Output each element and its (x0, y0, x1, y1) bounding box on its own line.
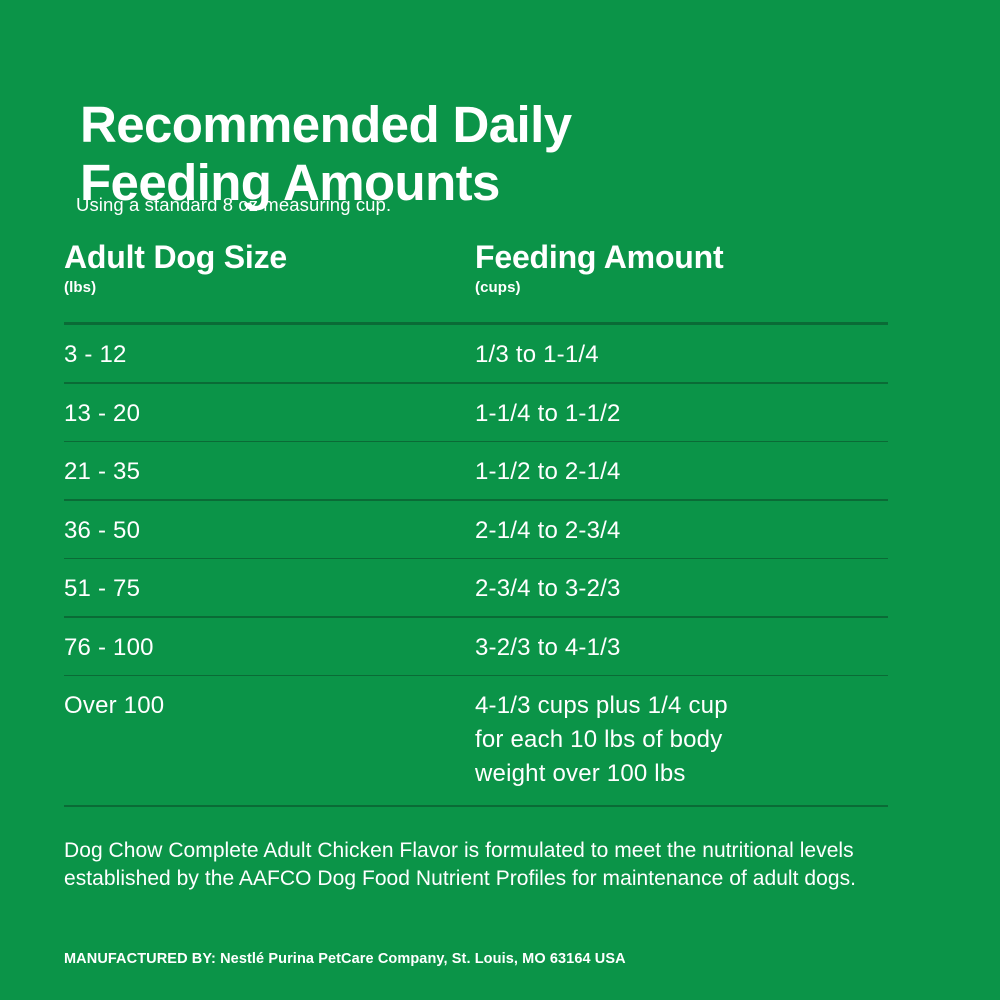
cell-dog-size: 21 - 35 (64, 455, 140, 489)
cell-feeding-amount: 2-3/4 to 3-2/3 (475, 572, 875, 606)
cell-dog-size: Over 100 (64, 689, 164, 723)
table-row: 13 - 20 1-1/4 to 1-1/2 (64, 384, 888, 441)
aafco-statement: Dog Chow Complete Adult Chicken Flavor i… (64, 837, 904, 893)
cell-feeding-amount: 3-2/3 to 4-1/3 (475, 631, 875, 665)
table-header-row: Adult Dog Size (lbs) Feeding Amount (cup… (64, 240, 888, 322)
cell-feeding-amount: 1-1/4 to 1-1/2 (475, 397, 875, 431)
page-subtitle: Using a standard 8 oz measuring cup. (76, 194, 391, 216)
column-header-feeding-amount-title: Feeding Amount (475, 240, 723, 275)
cell-feeding-amount: 4-1/3 cups plus 1/4 cup for each 10 lbs … (475, 689, 875, 791)
table-row: 76 - 100 3-2/3 to 4-1/3 (64, 618, 888, 675)
column-header-adult-dog-size-unit: (lbs) (64, 279, 287, 296)
table-row: 51 - 75 2-3/4 to 3-2/3 (64, 559, 888, 616)
table-row: 3 - 12 1/3 to 1-1/4 (64, 325, 888, 382)
table-row: 36 - 50 2-1/4 to 2-3/4 (64, 501, 888, 558)
cell-dog-size: 36 - 50 (64, 514, 140, 548)
feeding-chart-panel: Recommended Daily Feeding Amounts Using … (0, 0, 1000, 1000)
table-row: Over 100 4-1/3 cups plus 1/4 cup for eac… (64, 676, 888, 805)
column-header-adult-dog-size-title: Adult Dog Size (64, 240, 287, 275)
cell-dog-size: 51 - 75 (64, 572, 140, 606)
page-title-line-1: Recommended Daily (80, 96, 840, 154)
cell-dog-size: 13 - 20 (64, 397, 140, 431)
column-header-adult-dog-size: Adult Dog Size (lbs) (64, 240, 287, 296)
table-footer-divider (64, 805, 888, 807)
cell-dog-size: 76 - 100 (64, 631, 154, 665)
feeding-amounts-table: Adult Dog Size (lbs) Feeding Amount (cup… (64, 240, 888, 807)
cell-dog-size: 3 - 12 (64, 338, 127, 372)
manufacturer-line: MANUFACTURED BY: Nestlé Purina PetCare C… (64, 951, 626, 967)
cell-feeding-amount: 2-1/4 to 2-3/4 (475, 514, 875, 548)
cell-feeding-amount: 1/3 to 1-1/4 (475, 338, 875, 372)
column-header-feeding-amount-unit: (cups) (475, 279, 723, 296)
column-header-feeding-amount: Feeding Amount (cups) (475, 240, 723, 296)
table-row: 21 - 35 1-1/2 to 2-1/4 (64, 442, 888, 499)
cell-feeding-amount: 1-1/2 to 2-1/4 (475, 455, 875, 489)
